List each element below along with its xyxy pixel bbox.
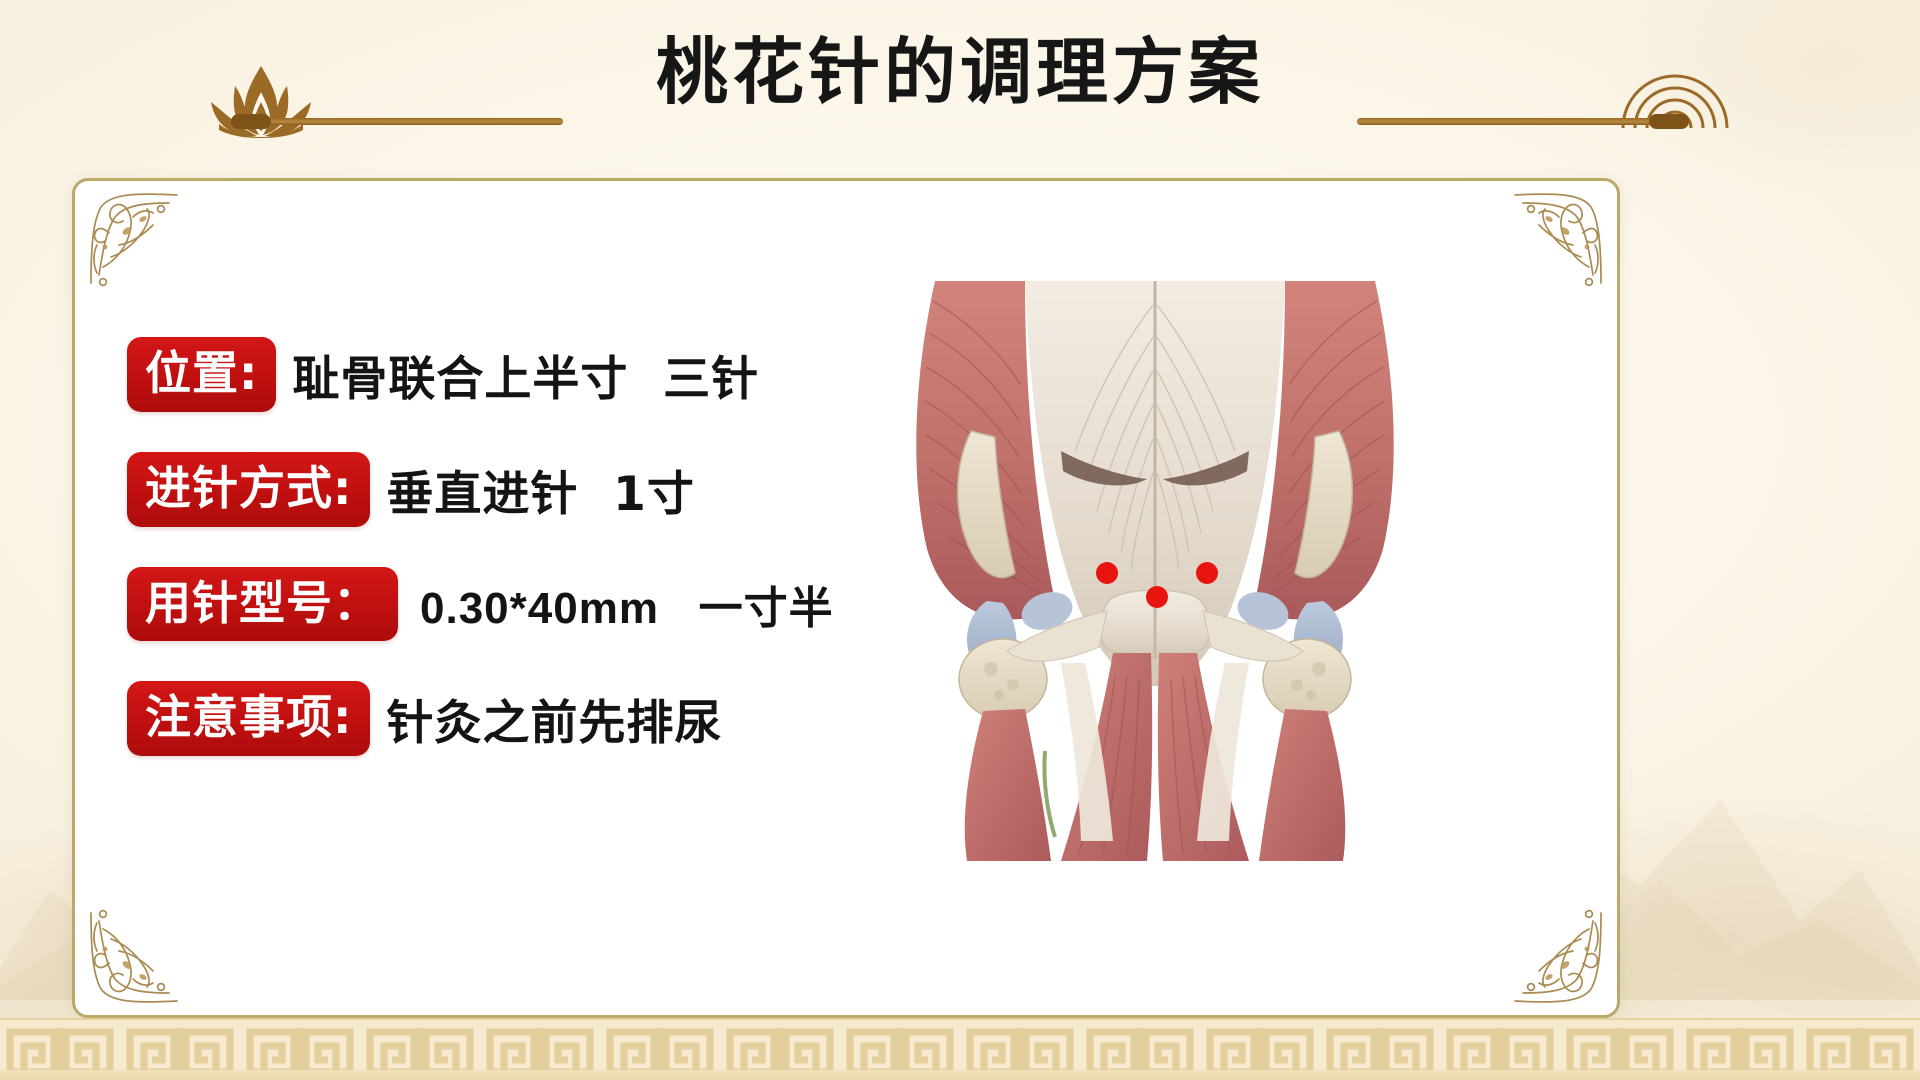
needle-point-center xyxy=(1146,586,1168,608)
needle-point-left xyxy=(1096,562,1118,584)
page-title: 桃花针的调理方案 xyxy=(0,36,1920,108)
slide-background: 桃花针的调理方案 xyxy=(0,0,1920,1080)
row-location: 位置: 耻骨联合上半寸 三针 xyxy=(127,337,834,412)
pelvis-anatomy-image xyxy=(875,281,1435,861)
row-precautions: 注意事项: 针灸之前先排尿 xyxy=(127,681,834,756)
corner-ornament-top-left xyxy=(81,187,189,295)
value-location: 耻骨联合上半寸 三针 xyxy=(292,340,759,409)
row-insertion-method: 进针方式: 垂直进针 1寸 xyxy=(127,452,834,527)
badge-precautions: 注意事项: xyxy=(127,681,370,756)
treatment-details-list: 位置: 耻骨联合上半寸 三针 进针方式: 垂直进针 1寸 用针型号： 0.30*… xyxy=(127,337,834,756)
title-rule-left xyxy=(268,118,563,125)
title-rule-right xyxy=(1357,118,1652,125)
badge-insertion-method: 进针方式: xyxy=(127,452,370,527)
content-card: 位置: 耻骨联合上半寸 三针 进针方式: 垂直进针 1寸 用针型号： 0.30*… xyxy=(72,178,1620,1018)
corner-ornament-top-right xyxy=(1503,187,1611,295)
footer-strip xyxy=(0,1070,1920,1080)
corner-ornament-bottom-left xyxy=(81,901,189,1009)
row-needle-model: 用针型号： 0.30*40mm 一寸半 xyxy=(127,567,834,642)
header: 桃花针的调理方案 xyxy=(0,0,1920,170)
title-rule-cap-left xyxy=(231,114,271,129)
value-needle-model: 0.30*40mm 一寸半 xyxy=(420,572,834,636)
corner-ornament-bottom-right xyxy=(1503,901,1611,1009)
badge-location: 位置: xyxy=(127,337,276,412)
badge-needle-model: 用针型号： xyxy=(127,567,398,642)
needle-point-right xyxy=(1196,562,1218,584)
value-insertion-method: 垂直进针 1寸 xyxy=(386,455,694,524)
value-precautions: 针灸之前先排尿 xyxy=(386,684,722,753)
title-rule-cap-right xyxy=(1649,114,1689,129)
